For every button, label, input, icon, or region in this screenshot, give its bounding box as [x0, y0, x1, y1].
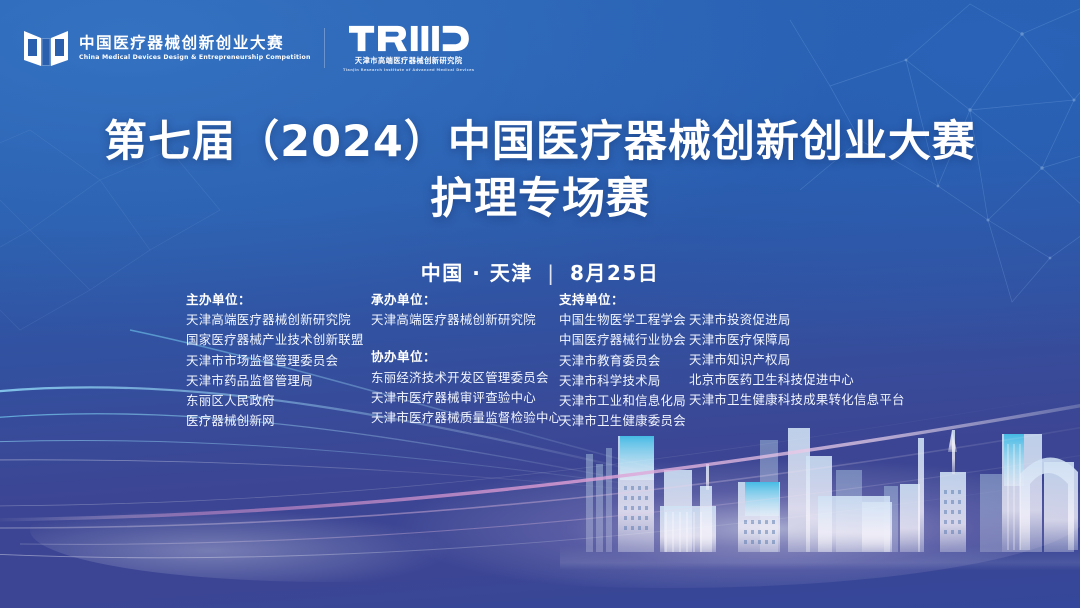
- organizer-item: 天津市教育委员会: [559, 351, 689, 371]
- organizer-item: 天津市医疗保障局: [689, 330, 904, 350]
- title-line-2: 护理专场赛: [0, 174, 1080, 225]
- organizer-item: 国家医疗器械产业技术创新联盟: [186, 330, 371, 350]
- organizer-item: 天津市科学技术局: [559, 371, 689, 391]
- trimd-wordmark-icon: [349, 24, 469, 53]
- organizers-column-organizer: 承办单位： 天津高端医疗器械创新研究院 协办单位： 东丽经济技术开发区管理委员会…: [371, 290, 559, 428]
- organizers-block: 主办单位： 天津高端医疗器械创新研究院 国家医疗器械产业技术创新联盟 天津市市场…: [186, 290, 916, 431]
- organizer-item: 天津市知识产权局: [689, 350, 904, 370]
- organizer-group: 支持单位： 中国生物医学工程学会 中国医疗器械行业协会 天津市教育委员会 天津市…: [559, 290, 689, 431]
- organizer-item: 中国生物医学工程学会: [559, 310, 689, 330]
- logo-divider: [324, 28, 325, 68]
- organizer-item: 天津市投资促进局: [689, 310, 904, 330]
- organizer-item: 天津高端医疗器械创新研究院: [186, 310, 371, 330]
- event-date: 8月25日: [570, 261, 659, 285]
- event-location: 中国 · 天津: [421, 261, 533, 285]
- organizer-item: 天津市工业和信息化局: [559, 391, 689, 411]
- organizer-heading: 协办单位：: [371, 347, 559, 367]
- organizer-heading: 支持单位：: [559, 290, 689, 310]
- logo-china-competition-text: 中国医疗器械创新创业大赛 China Medical Devices Desig…: [79, 35, 306, 61]
- organizer-item: 北京市医药卫生科技促进中心: [689, 370, 904, 390]
- organizer-heading: 承办单位：: [371, 290, 559, 310]
- subtitle-separator: |: [541, 261, 561, 285]
- organizer-item: 东丽经济技术开发区管理委员会: [371, 368, 559, 388]
- organizers-column-support-a: 支持单位： 中国生物医学工程学会 中国医疗器械行业协会 天津市教育委员会 天津市…: [559, 290, 689, 431]
- organizer-group: 协办单位： 东丽经济技术开发区管理委员会 天津市医疗器械审评查验中心 天津市医疗…: [371, 347, 559, 428]
- page-title: 第七届（2024）中国医疗器械创新创业大赛 护理专场赛: [0, 117, 1080, 224]
- organizer-group: 承办单位： 天津高端医疗器械创新研究院: [371, 290, 559, 330]
- open-door-icon: [22, 26, 70, 70]
- organizer-heading: 主办单位：: [186, 290, 371, 310]
- organizer-item: 天津市医疗器械质量监督检验中心: [371, 408, 559, 428]
- organizer-item: 天津市卫生健康科技成果转化信息平台: [689, 390, 904, 410]
- organizer-item: 天津高端医疗器械创新研究院: [371, 310, 559, 330]
- logo-china-competition-name-cn: 中国医疗器械创新创业大赛: [79, 35, 306, 52]
- logo-trimd: 天津市高端医疗器械创新研究院 Tianjin Research Institut…: [343, 24, 474, 72]
- organizers-column-support-b: 天津市投资促进局 天津市医疗保障局 天津市知识产权局 北京市医药卫生科技促进中心…: [689, 290, 904, 410]
- logo-china-competition-name-en: China Medical Devices Design & Entrepren…: [79, 54, 311, 61]
- organizer-item: 医疗器械创新网: [186, 411, 371, 431]
- column-spacer: [689, 290, 904, 310]
- event-poster: 中国医疗器械创新创业大赛 China Medical Devices Desig…: [0, 0, 1080, 608]
- title-line-1: 第七届（2024）中国医疗器械创新创业大赛: [0, 117, 1080, 168]
- organizer-item: 中国医疗器械行业协会: [559, 330, 689, 350]
- logo-trimd-name-en: Tianjin Research Institute of Advanced M…: [343, 68, 474, 72]
- logo-trimd-name-cn: 天津市高端医疗器械创新研究院: [355, 56, 463, 66]
- organizer-group: 天津市投资促进局 天津市医疗保障局 天津市知识产权局 北京市医药卫生科技促进中心…: [689, 290, 904, 410]
- organizer-group: 主办单位： 天津高端医疗器械创新研究院 国家医疗器械产业技术创新联盟 天津市市场…: [186, 290, 371, 431]
- organizer-item: 天津市卫生健康委员会: [559, 411, 689, 431]
- logo-china-competition: 中国医疗器械创新创业大赛 China Medical Devices Desig…: [22, 26, 306, 70]
- organizer-item: 天津市药品监督管理局: [186, 371, 371, 391]
- event-subtitle: 中国 · 天津 | 8月25日: [0, 257, 1080, 286]
- header-logos: 中国医疗器械创新创业大赛 China Medical Devices Desig…: [22, 24, 474, 72]
- organizer-item: 天津市市场监督管理委员会: [186, 351, 371, 371]
- organizer-item: 天津市医疗器械审评查验中心: [371, 388, 559, 408]
- organizer-item: 东丽区人民政府: [186, 391, 371, 411]
- organizers-column-host: 主办单位： 天津高端医疗器械创新研究院 国家医疗器械产业技术创新联盟 天津市市场…: [186, 290, 371, 431]
